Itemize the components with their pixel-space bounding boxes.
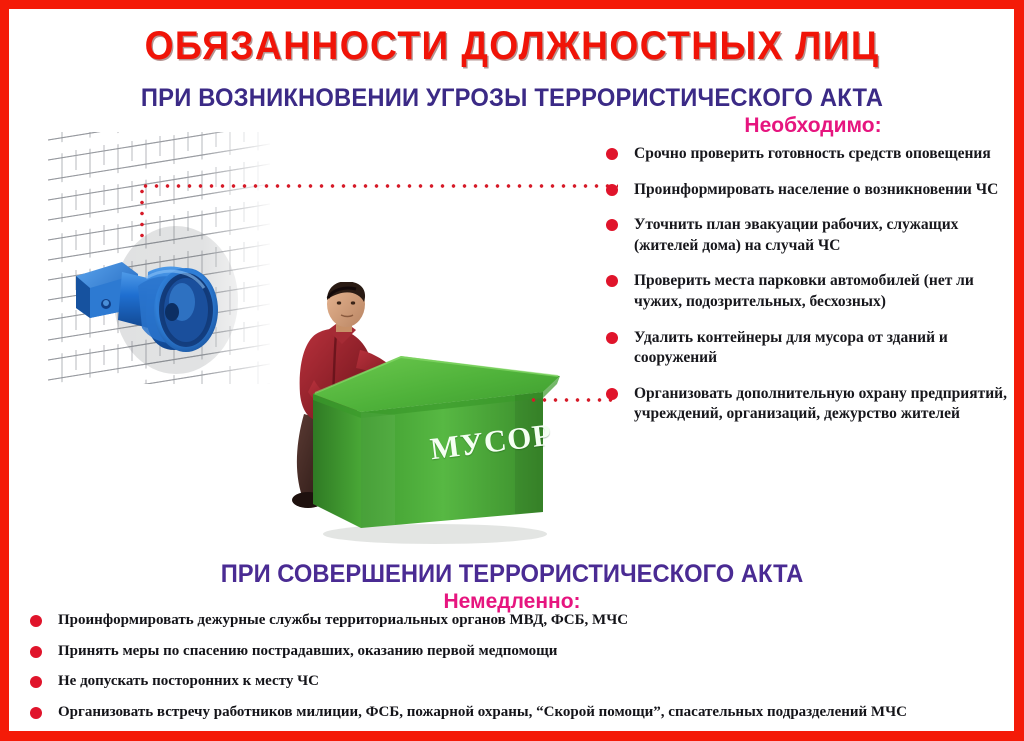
bullet-dot	[606, 388, 618, 400]
list-item-text: Проинформировать дежурные службы террито…	[58, 612, 628, 628]
list-item: Уточнить план эвакуации рабочих, служащи…	[604, 215, 1009, 256]
bullet-dot	[606, 148, 618, 160]
list-item-text: Не допускать посторонних к месту ЧС	[58, 673, 319, 689]
page-title: ОБЯЗАННОСТИ ДОЛЖНОСТНЫХ ЛИЦ	[36, 24, 988, 69]
list-item-text: Проинформировать население о возникновен…	[634, 180, 1009, 201]
list-item: Удалить контейнеры для мусора от зданий …	[604, 328, 1009, 369]
bullet-dot	[606, 275, 618, 287]
attack-actions-list: Проинформировать дежурные службы террито…	[24, 612, 1004, 734]
immediately-label: Немедленно:	[0, 590, 1024, 614]
list-item: Проинформировать население о возникновен…	[604, 180, 1009, 201]
bullet-dot	[30, 707, 42, 719]
bullet-dot	[606, 219, 618, 231]
frame-border-top	[0, 0, 1024, 9]
list-item-text: Уточнить план эвакуации рабочих, служащи…	[634, 215, 1009, 256]
bullet-dot	[30, 646, 42, 658]
list-item: Не допускать посторонних к месту ЧС	[24, 673, 1004, 690]
list-item-text: Организовать встречу работников милиции,…	[58, 704, 907, 720]
bullet-dot	[606, 332, 618, 344]
frame-border-left	[0, 0, 9, 741]
list-item: Организовать встречу работников милиции,…	[24, 704, 1004, 721]
wall-loudspeaker	[60, 238, 246, 368]
leader-line-speaker	[140, 184, 618, 188]
section-two-heading: ПРИ СОВЕРШЕНИИ ТЕРРОРИСТИЧЕСКОГО АКТА	[26, 560, 999, 589]
list-item-text: Проверить места парковки автомобилей (не…	[634, 271, 1009, 312]
list-item: Срочно проверить готовность средств опов…	[604, 144, 1009, 165]
bullet-dot	[30, 615, 42, 627]
list-item: Проинформировать дежурные службы террито…	[24, 612, 1004, 629]
list-item-text: Принять меры по спасению пострадавших, о…	[58, 643, 557, 659]
list-item: Принять меры по спасению пострадавших, о…	[24, 643, 1004, 660]
leader-line-speaker-drop	[140, 186, 144, 242]
list-item: Проверить места парковки автомобилей (не…	[604, 271, 1009, 312]
list-item-text: Организовать дополнительную охрану предп…	[634, 384, 1009, 425]
frame-border-right	[1014, 0, 1024, 741]
trash-dumpster	[305, 336, 560, 546]
list-item-text: Срочно проверить готовность средств опов…	[634, 144, 1009, 165]
bullet-dot	[30, 676, 42, 688]
list-item: Организовать дополнительную охрану предп…	[604, 384, 1009, 425]
needed-label: Необходимо:	[618, 114, 1008, 138]
leader-line-dumpster	[528, 398, 616, 402]
list-item-text: Удалить контейнеры для мусора от зданий …	[634, 328, 1009, 369]
page-subtitle: ПРИ ВОЗНИКНОВЕНИИ УГРОЗЫ ТЕРРОРИСТИЧЕСКО…	[26, 84, 999, 113]
bullet-dot	[606, 184, 618, 196]
threat-checklist: Срочно проверить готовность средств опов…	[604, 144, 1009, 440]
poster-canvas: ОБЯЗАННОСТИ ДОЛЖНОСТНЫХ ЛИЦ ПРИ ВОЗНИКНО…	[0, 0, 1024, 741]
